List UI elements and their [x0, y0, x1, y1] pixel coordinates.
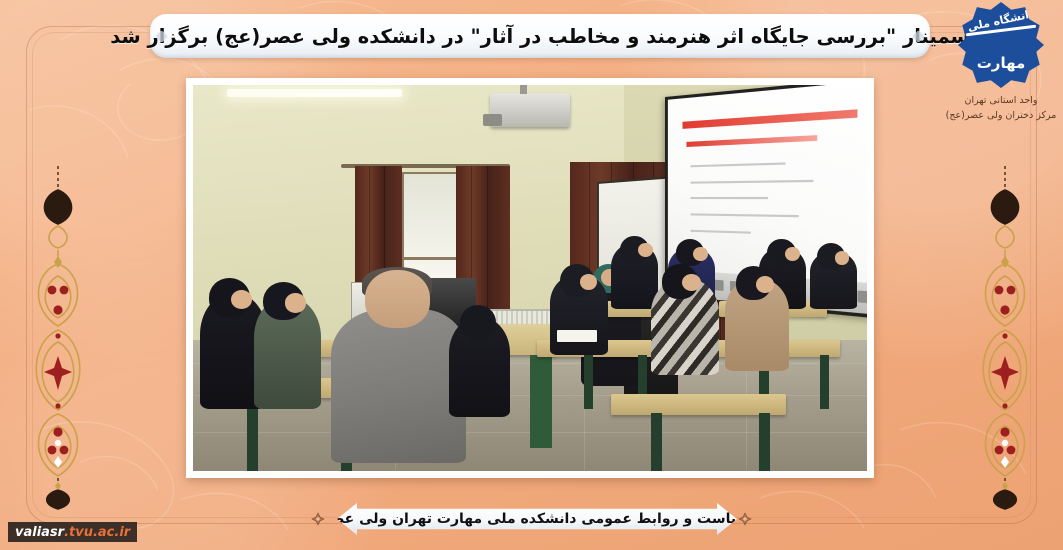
footer-banner-text: حوزه ریاست و روابط عمومی دانشکده ملی مها…	[290, 511, 785, 527]
logo-subtitle: واحد استانی تهران مرکز دختران ولی عصر(عج…	[946, 94, 1057, 123]
website-url[interactable]: valiasr.tvu.ac.ir	[8, 522, 137, 542]
university-logo[interactable]: دانشگاه ملی مهارت واحد استانی تهران مرکز…	[945, 2, 1057, 152]
persian-eslimi-ornament-left	[28, 160, 88, 510]
url-secondary: .tvu.ac.ir	[64, 525, 130, 540]
chair-leg	[584, 355, 593, 409]
logo-subtitle-line-2: مرکز دختران ولی عصر(عج)	[946, 109, 1057, 124]
logo-shield-bottom-text: مهارت	[958, 54, 1044, 72]
url-primary: valiasr	[15, 525, 64, 540]
poster-canvas: سمینار "بررسی جایگاه اثر هنرمند و مخاطب …	[0, 0, 1063, 550]
student-face	[693, 247, 708, 261]
student-desk	[611, 394, 786, 415]
title-banner: سمینار "بررسی جایگاه اثر هنرمند و مخاطب …	[150, 14, 930, 58]
footer-banner: حوزه ریاست و روابط عمومی دانشکده ملی مها…	[337, 503, 737, 535]
student-face	[638, 243, 653, 257]
diamond-ornament-right	[738, 512, 752, 526]
student-face	[285, 293, 307, 312]
logo-subtitle-line-1: واحد استانی تهران	[946, 94, 1057, 109]
notebook	[557, 330, 597, 342]
page-title: سمینار "بررسی جایگاه اثر هنرمند و مخاطب …	[84, 25, 995, 48]
student-face	[835, 251, 850, 265]
attendee-man	[331, 309, 466, 463]
persian-eslimi-ornament-right	[975, 160, 1035, 510]
student-face	[756, 276, 774, 293]
event-photo-frame	[186, 78, 874, 478]
student-face	[231, 290, 253, 309]
logo-shield-icon: دانشگاه ملی مهارت	[958, 2, 1044, 88]
attendee-man-head	[365, 270, 430, 328]
chair-leg	[820, 355, 829, 409]
projector-icon	[490, 93, 571, 128]
chair-leg	[759, 413, 770, 471]
chair-leg	[651, 413, 662, 471]
ceiling-light	[227, 89, 402, 97]
event-photo	[193, 85, 867, 471]
desk-leg	[530, 355, 552, 448]
logo-calligraphy-stroke	[966, 29, 1036, 42]
diamond-ornament-left	[311, 512, 325, 526]
student-headscarf	[460, 305, 496, 340]
student-face	[785, 247, 800, 261]
